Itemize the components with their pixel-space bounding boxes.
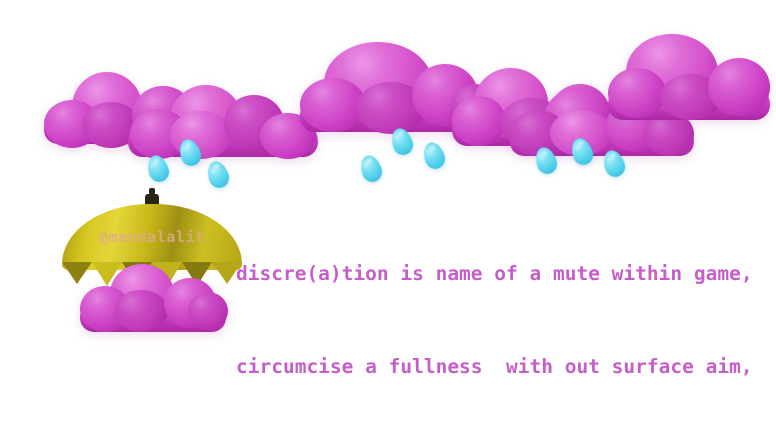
cloud-puff	[708, 58, 770, 116]
cloud-puff	[114, 290, 168, 332]
watermark-handle: @mandalalit	[62, 228, 242, 246]
cloud-puff	[452, 96, 506, 146]
poster-canvas: @mandalalit discre(a)tion is name of a m…	[0, 0, 776, 432]
cloud-puff	[608, 68, 666, 118]
cloud-6	[608, 34, 776, 120]
cloud-puff	[188, 292, 228, 330]
raindrop	[357, 153, 384, 185]
raindrop	[420, 140, 447, 172]
cloud-2	[128, 85, 320, 157]
pink-cloud-under-umbrella	[80, 264, 228, 332]
poem-text-block: discre(a)tion is name of a mute within g…	[236, 196, 776, 432]
yellow-umbrella: @mandalalit	[62, 192, 242, 337]
poem-line-2: circumcise a fullness with out surface a…	[236, 351, 776, 382]
raindrop	[204, 159, 231, 191]
poem-line-1: discre(a)tion is name of a mute within g…	[236, 258, 776, 289]
